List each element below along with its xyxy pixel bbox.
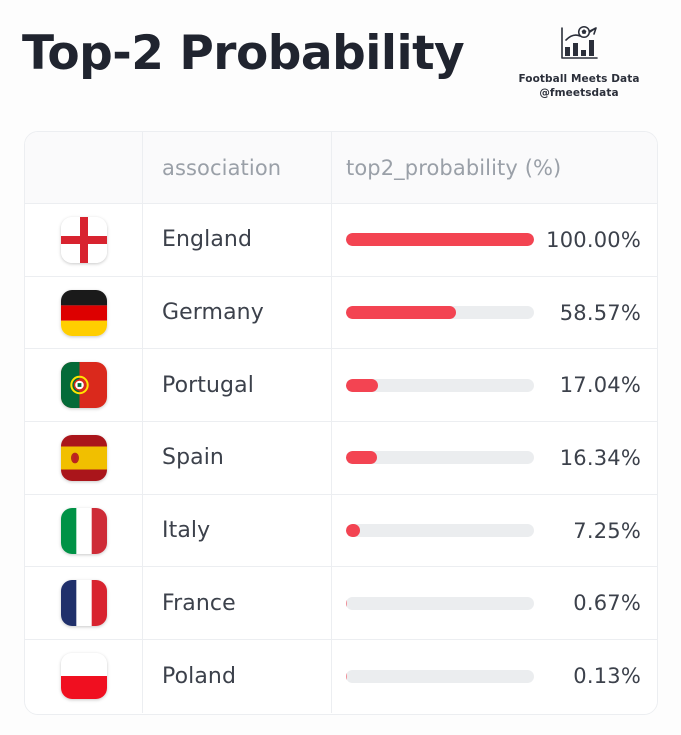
row-association-cell: Italy <box>143 495 332 567</box>
row-association-cell: Spain <box>143 422 332 494</box>
probability-value: 7.25% <box>534 519 641 543</box>
bar-chart-football-icon <box>557 24 601 66</box>
row-probability-cell: 16.34% <box>332 422 657 494</box>
flag-spain-icon <box>61 435 107 481</box>
row-probability-cell: 0.67% <box>332 567 657 639</box>
probability-bar-track <box>346 451 534 464</box>
row-probability-cell: 7.25% <box>332 495 657 567</box>
association-label: Germany <box>162 300 264 325</box>
row-flag-cell <box>25 277 143 349</box>
probability-bar-track <box>346 233 534 246</box>
probability-bar-fill <box>346 451 377 464</box>
table-row[interactable]: France 0.67% <box>25 567 657 640</box>
column-header-probability: top2_probability (%) <box>346 156 561 180</box>
association-label: France <box>162 591 236 616</box>
association-label: Spain <box>162 445 224 470</box>
table-row[interactable]: Poland 0.13% <box>25 640 657 713</box>
row-association-cell: Portugal <box>143 349 332 421</box>
probability-bar-fill <box>346 233 534 246</box>
brand-handle: @fmeetsdata <box>499 86 659 100</box>
flag-portugal-icon <box>61 362 107 408</box>
table-row[interactable]: Spain 16.34% <box>25 422 657 495</box>
table-row[interactable]: Germany 58.57% <box>25 277 657 350</box>
probability-bar-track <box>346 306 534 319</box>
column-header-association: association <box>162 156 281 180</box>
table-row[interactable]: England 100.00% <box>25 204 657 277</box>
row-flag-cell <box>25 495 143 567</box>
flag-england-icon <box>61 217 107 263</box>
flag-france-icon <box>61 580 107 626</box>
probability-bar-fill <box>346 306 456 319</box>
brand-block: Football Meets Data @fmeetsdata <box>499 24 659 100</box>
row-flag-cell <box>25 349 143 421</box>
header-cell-probability: top2_probability (%) <box>332 132 657 203</box>
flag-poland-icon <box>61 653 107 699</box>
probability-bar-track <box>346 524 534 537</box>
header-cell-flag <box>25 132 143 203</box>
flag-germany-icon <box>61 290 107 336</box>
probability-value: 100.00% <box>534 228 641 252</box>
row-probability-cell: 17.04% <box>332 349 657 421</box>
table-header-row: association top2_probability (%) <box>25 132 657 204</box>
probability-value: 58.57% <box>534 301 641 325</box>
probability-value: 17.04% <box>534 373 641 397</box>
row-probability-cell: 58.57% <box>332 277 657 349</box>
row-flag-cell <box>25 422 143 494</box>
probability-table: association top2_probability (%) England… <box>24 131 658 715</box>
association-label: Italy <box>162 518 210 543</box>
probability-bar-fill <box>346 379 378 392</box>
probability-bar-fill <box>346 597 347 610</box>
probability-value: 16.34% <box>534 446 641 470</box>
probability-value: 0.67% <box>534 591 641 615</box>
probability-value: 0.13% <box>534 664 641 688</box>
row-association-cell: Poland <box>143 640 332 713</box>
row-association-cell: Germany <box>143 277 332 349</box>
page-header: Top-2 Probability <box>0 0 681 120</box>
brand-name: Football Meets Data <box>499 72 659 86</box>
header-cell-association: association <box>143 132 332 203</box>
association-label: England <box>162 227 252 252</box>
probability-bar-track <box>346 670 534 683</box>
row-flag-cell <box>25 640 143 713</box>
row-association-cell: France <box>143 567 332 639</box>
probability-bar-track <box>346 597 534 610</box>
row-probability-cell: 100.00% <box>332 204 657 276</box>
association-label: Portugal <box>162 373 254 398</box>
row-flag-cell <box>25 567 143 639</box>
table-row[interactable]: Portugal 17.04% <box>25 349 657 422</box>
page-title: Top-2 Probability <box>22 26 464 81</box>
probability-bar-track <box>346 379 534 392</box>
table-row[interactable]: Italy 7.25% <box>25 495 657 568</box>
probability-table-page: Top-2 Probability <box>0 0 681 735</box>
row-flag-cell <box>25 204 143 276</box>
row-association-cell: England <box>143 204 332 276</box>
association-label: Poland <box>162 664 236 689</box>
flag-italy-icon <box>61 508 107 554</box>
row-probability-cell: 0.13% <box>332 640 657 713</box>
probability-bar-fill <box>346 524 360 537</box>
